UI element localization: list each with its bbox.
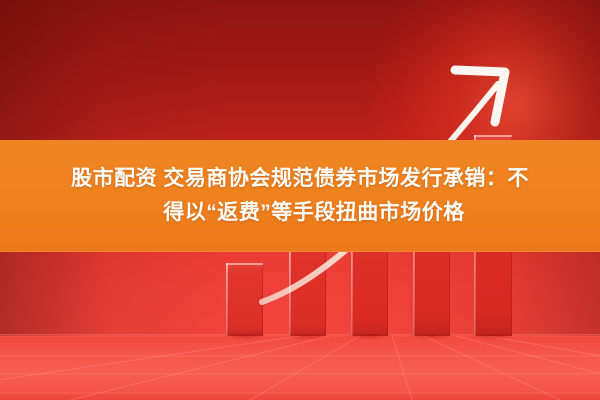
banner-image: 股市配资 交易商协会规范债券市场发行承销：不 得以“返费”等手段扭曲市场价格 xyxy=(0,0,600,400)
headline-line-1: 股市配资 交易商协会规范债券市场发行承销：不 xyxy=(71,165,529,193)
headline-line-2: 得以“返费”等手段扭曲市场价格 xyxy=(135,199,465,227)
headline-text: 股市配资 交易商协会规范债券市场发行承销：不 得以“返费”等手段扭曲市场价格 xyxy=(0,140,600,252)
